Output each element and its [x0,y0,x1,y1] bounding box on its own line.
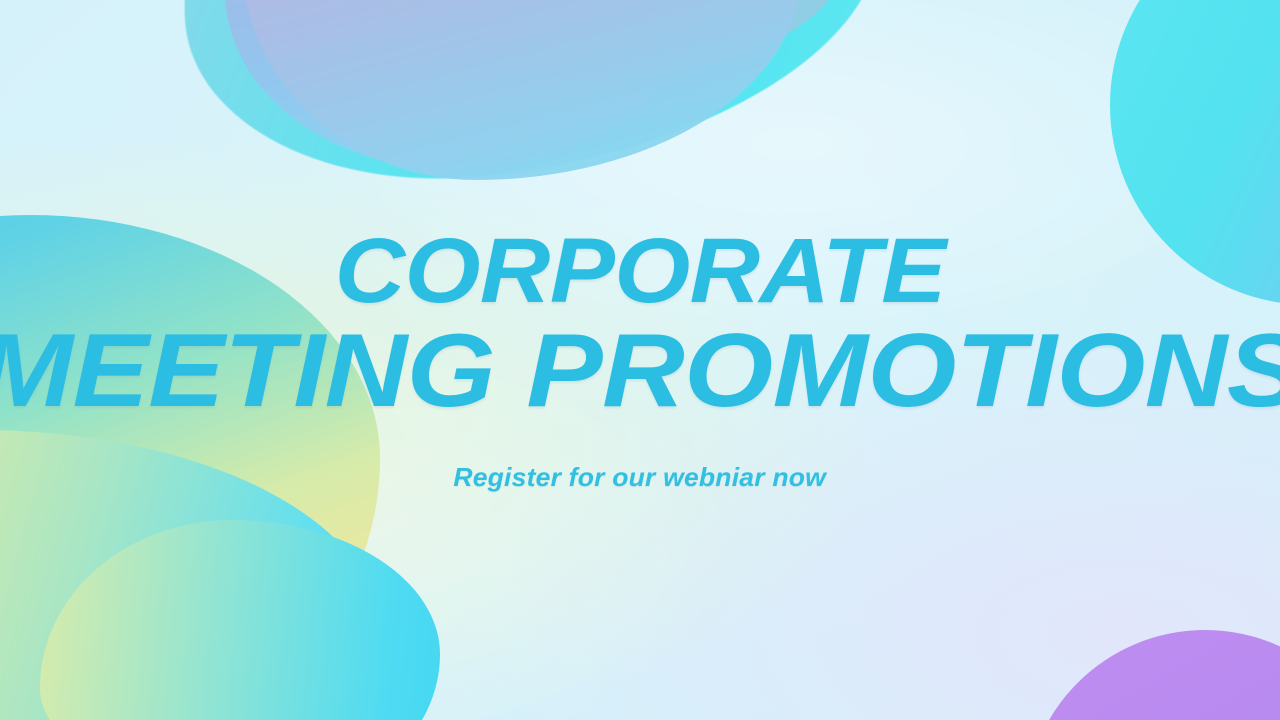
promo-poster: CORPORATE MEETING PROMOTIONS Register fo… [0,0,1280,720]
subheadline-call-to-action: Register for our webniar now [454,462,827,493]
headline-line-1: CORPORATE [334,227,945,315]
headline-line-2: MEETING PROMOTIONS [0,322,1280,422]
poster-content: CORPORATE MEETING PROMOTIONS Register fo… [0,0,1280,720]
